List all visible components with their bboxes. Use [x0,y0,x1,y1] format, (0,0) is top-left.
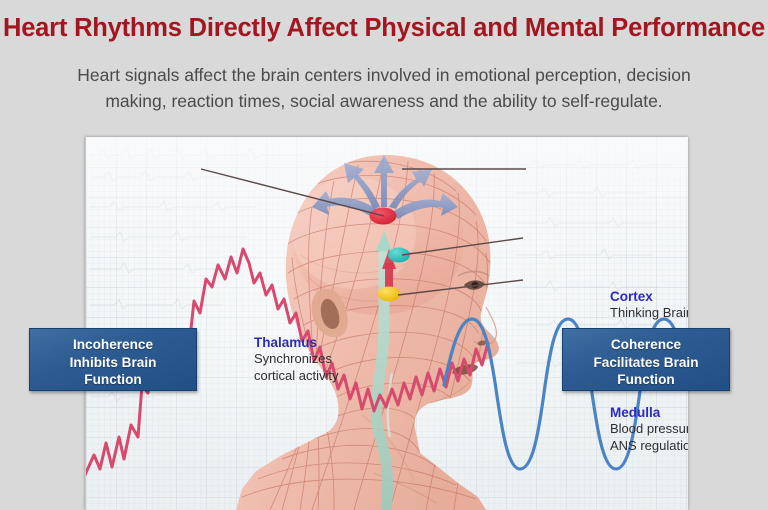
incoherence-line-2: Inhibits Brain [38,354,188,372]
callout-cortex: Cortex Thinking Brain [610,289,688,322]
callout-medulla-desc-1: Blood pressure and [610,421,688,438]
callout-thalamus-desc-1: Synchronizes [254,351,339,368]
subtitle-line-2: making, reaction times, social awareness… [26,88,742,114]
subtitle-line-1: Heart signals affect the brain centers i… [26,62,742,88]
callout-thalamus-title: Thalamus [254,335,339,351]
callout-medulla: Medulla Blood pressure and ANS regulatio… [610,405,688,454]
callout-cortex-title: Cortex [610,289,688,305]
coherence-line-3: Function [571,371,721,389]
callout-cortex-desc-1: Thinking Brain [610,305,688,322]
anatomy-figure-panel: Thalamus Synchronizes cortical activity … [85,137,688,510]
heart-rhythm-waveforms-svg [86,137,688,510]
callout-medulla-desc-2: ANS regulation [610,438,688,455]
coherence-line-2: Facilitates Brain [571,354,721,372]
incoherence-line-3: Function [38,371,188,389]
incoherence-line-1: Incoherence [38,336,188,354]
callout-thalamus-desc-2: cortical activity [254,368,339,385]
coherence-callout-box: Coherence Facilitates Brain Function [562,328,730,391]
page-title: Heart Rhythms Directly Affect Physical a… [0,14,768,43]
callout-medulla-title: Medulla [610,405,688,421]
callout-thalamus: Thalamus Synchronizes cortical activity [254,335,339,384]
coherence-line-1: Coherence [571,336,721,354]
incoherence-callout-box: Incoherence Inhibits Brain Function [29,328,197,391]
page-subtitle: Heart signals affect the brain centers i… [26,62,742,114]
